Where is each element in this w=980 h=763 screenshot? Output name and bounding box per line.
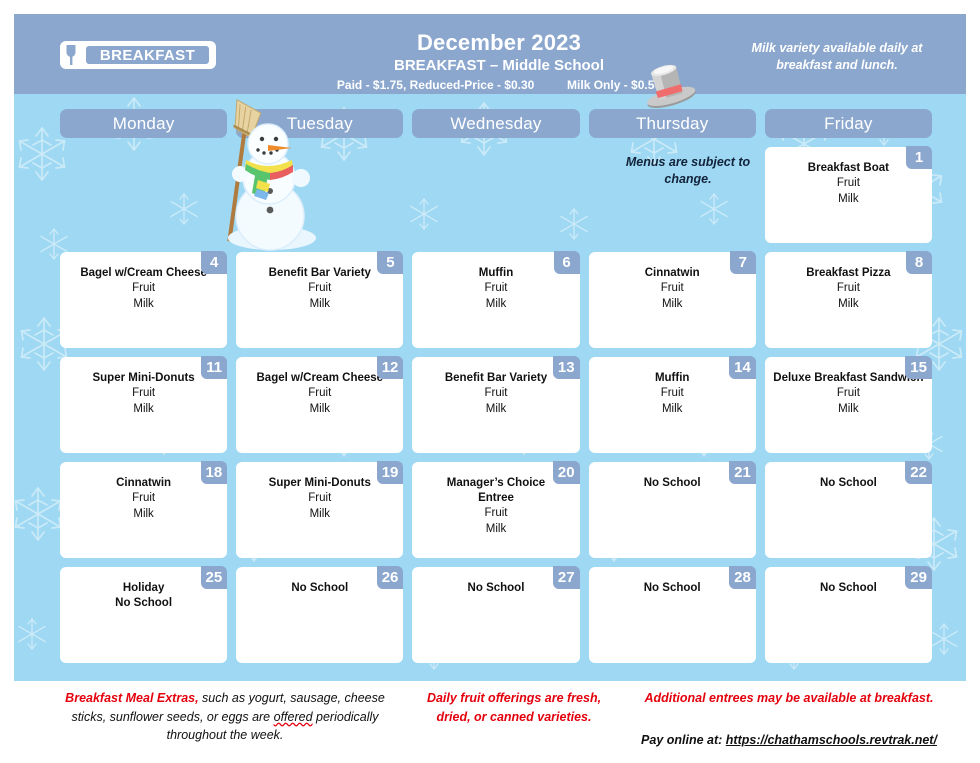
menu-side-line: Milk	[66, 297, 221, 313]
day-number-badge: 20	[553, 461, 580, 484]
menu-side-line: Milk	[418, 297, 573, 313]
day-number-badge: 11	[201, 356, 227, 379]
calendar-day-cell: 27No School	[412, 567, 579, 663]
day-number-badge: 18	[201, 461, 228, 484]
pay-online-label: Pay online at:	[641, 733, 726, 747]
calendar-cell-empty	[236, 147, 403, 243]
day-number-badge: 12	[377, 356, 404, 379]
day-number-badge: 1	[906, 146, 932, 169]
menu-entree-line: Breakfast Pizza	[771, 266, 926, 281]
calendar-day-cell: 4Bagel w/Cream CheeseFruitMilk	[60, 252, 227, 348]
menu-entree-line: Benefit Bar Variety	[418, 371, 573, 386]
menu-side-line: Milk	[771, 192, 926, 208]
calendar-day-cell: 22No School	[765, 462, 932, 558]
day-number-badge: 19	[377, 461, 404, 484]
price-milk-only: Milk Only - $0.50	[567, 78, 661, 92]
menu-side-line: Milk	[595, 402, 750, 418]
menu-side-line: Milk	[771, 297, 926, 313]
menu-side-line: Fruit	[242, 491, 397, 507]
calendar-cell-empty	[412, 147, 579, 243]
day-header-thursday: Thursday	[589, 109, 756, 138]
menu-side-line: Milk	[242, 507, 397, 523]
menu-entree-line: Bagel w/Cream Cheese	[242, 371, 397, 386]
pay-online-link[interactable]: https://chathamschools.revtrak.net/	[726, 733, 937, 747]
breakfast-logo-label: BREAKFAST	[84, 44, 211, 66]
calendar-day-cell: 12Bagel w/Cream CheeseFruitMilk	[236, 357, 403, 453]
menu-entree-line: No School	[595, 476, 750, 491]
calendar-day-cell: 15Deluxe Breakfast SandwichFruitMilk	[765, 357, 932, 453]
menu-entree-line: Super Mini-Donuts	[66, 371, 221, 386]
menu-side-line: Fruit	[418, 386, 573, 402]
day-number-badge: 29	[905, 566, 932, 589]
milk-variety-note: Milk variety available daily at breakfas…	[742, 40, 932, 74]
menu-side-line: Milk	[66, 402, 221, 418]
menu-side-line: Fruit	[242, 386, 397, 402]
page-subtitle: BREAKFAST – Middle School	[264, 56, 734, 76]
day-number-badge: 15	[905, 356, 932, 379]
day-number-badge: 25	[201, 566, 228, 589]
menu-entree-line: Cinnatwin	[595, 266, 750, 281]
menu-side-line: Fruit	[771, 386, 926, 402]
day-number-badge: 21	[729, 461, 756, 484]
calendar-day-cell: 19Super Mini-DonutsFruitMilk	[236, 462, 403, 558]
day-number-badge: 5	[377, 251, 403, 274]
menu-entree-line: Entree	[418, 491, 573, 506]
day-header-wednesday: Wednesday	[412, 109, 579, 138]
calendar-day-cell: 5Benefit Bar VarietyFruitMilk	[236, 252, 403, 348]
day-number-badge: 4	[201, 251, 227, 274]
menu-entree-line: No School	[771, 476, 926, 491]
calendar-day-cell: 8Breakfast PizzaFruitMilk	[765, 252, 932, 348]
menu-entree-line: No School	[595, 581, 750, 596]
breakfast-logo: BREAKFAST	[60, 41, 216, 69]
menu-side-line: Milk	[242, 402, 397, 418]
calendar-day-cell: 20Manager’s ChoiceEntreeFruitMilk	[412, 462, 579, 558]
calendar-day-cell: 6MuffinFruitMilk	[412, 252, 579, 348]
calendar-grid: MondayTuesdayWednesdayThursdayFriday1Bre…	[60, 109, 932, 663]
menu-side-line: Fruit	[242, 281, 397, 297]
menu-side-line: Fruit	[595, 281, 750, 297]
footer-notes: Breakfast Meal Extras, such as yogurt, s…	[14, 684, 966, 756]
day-number-badge: 26	[377, 566, 404, 589]
day-number-badge: 8	[906, 251, 932, 274]
menu-side-line: Fruit	[595, 386, 750, 402]
header-band: BREAKFAST December 2023 BREAKFAST – Midd…	[14, 14, 966, 94]
calendar-day-cell: 28No School	[589, 567, 756, 663]
menu-entree-line: No School	[66, 596, 221, 611]
menu-calendar-page: BREAKFAST December 2023 BREAKFAST – Midd…	[0, 0, 980, 763]
menu-side-line: Fruit	[66, 491, 221, 507]
day-number-badge: 22	[905, 461, 932, 484]
calendar-day-cell: 13Benefit Bar VarietyFruitMilk	[412, 357, 579, 453]
menus-subject-note: Menus are subject to change.	[608, 154, 768, 188]
menu-side-line: Fruit	[418, 281, 573, 297]
menu-side-line: Fruit	[771, 176, 926, 192]
menu-entree-line: Holiday	[66, 581, 221, 596]
day-number-badge: 7	[730, 251, 756, 274]
price-line: Paid - $1.75, Reduced-Price - $0.30 Milk…	[264, 76, 734, 94]
menu-side-line: Fruit	[771, 281, 926, 297]
menu-entree-line: No School	[771, 581, 926, 596]
menu-side-line: Milk	[595, 297, 750, 313]
menu-side-line: Fruit	[66, 386, 221, 402]
menu-entree-line: No School	[418, 581, 573, 596]
menu-entree-line: Breakfast Boat	[771, 161, 926, 176]
calendar-day-cell: 11Super Mini-DonutsFruitMilk	[60, 357, 227, 453]
pay-online-note: Pay online at: https://chathamschools.re…	[614, 731, 964, 750]
additional-entrees-note: Additional entrees may be available at b…	[614, 689, 964, 708]
calendar-day-cell: 14MuffinFruitMilk	[589, 357, 756, 453]
menu-entree-line: Deluxe Breakfast Sandwich	[771, 371, 926, 386]
menu-entree-line: Muffin	[418, 266, 573, 281]
menu-entree-line: No School	[242, 581, 397, 596]
day-number-badge: 14	[729, 356, 756, 379]
menu-side-line: Fruit	[66, 281, 221, 297]
menu-side-line: Milk	[771, 402, 926, 418]
fruit-offerings-note: Daily fruit offerings are fresh, dried, …	[414, 689, 614, 726]
day-number-badge: 28	[729, 566, 756, 589]
calendar-day-cell: 25HolidayNo School	[60, 567, 227, 663]
calendar-day-cell: 18CinnatwinFruitMilk	[60, 462, 227, 558]
menu-entree-line: Manager’s Choice	[418, 476, 573, 491]
price-paid-reduced: Paid - $1.75, Reduced-Price - $0.30	[337, 78, 534, 92]
meal-extras-accent: Breakfast Meal Extras,	[65, 691, 198, 705]
meal-extras-note: Breakfast Meal Extras, such as yogurt, s…	[60, 689, 390, 745]
calendar-cell-empty	[60, 147, 227, 243]
calendar-day-cell: 21No School	[589, 462, 756, 558]
calendar-day-cell: 7CinnatwinFruitMilk	[589, 252, 756, 348]
meal-extras-spellcheck-word: offered	[274, 710, 313, 724]
calendar-body: Menus are subject to change. MondayTuesd…	[14, 94, 966, 681]
menu-entree-line: Muffin	[595, 371, 750, 386]
menu-entree-line: Super Mini-Donuts	[242, 476, 397, 491]
day-header-tuesday: Tuesday	[236, 109, 403, 138]
calendar-day-cell: 26No School	[236, 567, 403, 663]
day-header-monday: Monday	[60, 109, 227, 138]
calendar-day-cell: 1Breakfast BoatFruitMilk	[765, 147, 932, 243]
page-title: December 2023	[264, 30, 734, 56]
menu-side-line: Milk	[66, 507, 221, 523]
day-header-friday: Friday	[765, 109, 932, 138]
day-number-badge: 27	[553, 566, 580, 589]
menu-side-line: Milk	[242, 297, 397, 313]
menu-entree-line: Bagel w/Cream Cheese	[66, 266, 221, 281]
calendar-day-cell: 29No School	[765, 567, 932, 663]
menu-side-line: Milk	[418, 402, 573, 418]
menu-side-line: Fruit	[418, 506, 573, 522]
day-number-badge: 6	[554, 251, 580, 274]
menu-entree-line: Benefit Bar Variety	[242, 266, 397, 281]
menu-side-line: Milk	[418, 522, 573, 538]
fork-icon	[65, 44, 81, 66]
header-center: December 2023 BREAKFAST – Middle School …	[264, 30, 734, 94]
menu-entree-line: Cinnatwin	[66, 476, 221, 491]
day-number-badge: 13	[553, 356, 580, 379]
